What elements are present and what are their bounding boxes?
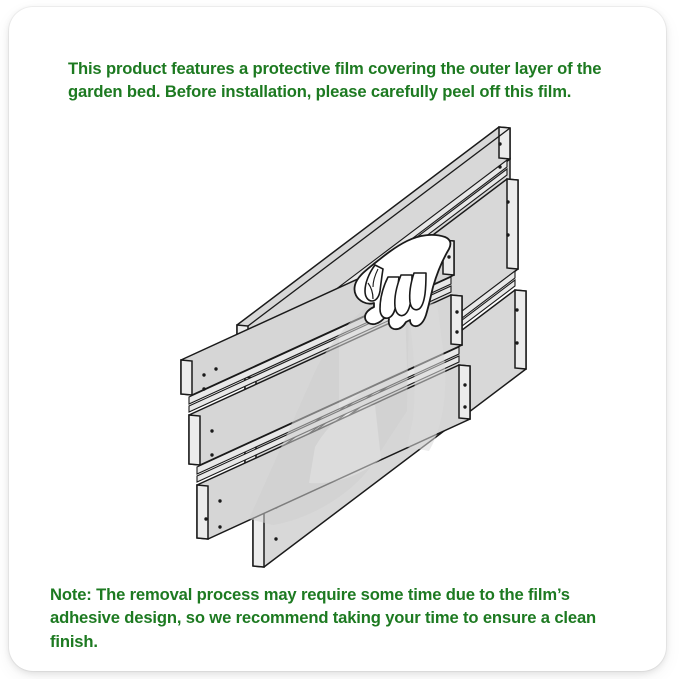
protective-film-sheet <box>249 287 445 525</box>
removal-time-note-text: Note: The removal process may require so… <box>50 583 630 654</box>
upper-panel-assembly <box>237 127 526 567</box>
hand-peeling-film-illustration <box>9 7 666 671</box>
lower-panel-assembly <box>181 240 470 539</box>
instruction-card: This product features a protective film … <box>9 7 666 671</box>
protective-film-instruction-text: This product features a protective film … <box>68 57 628 104</box>
screw-holes-upper <box>257 142 518 540</box>
screw-holes-lower <box>202 255 466 528</box>
illustration-container <box>9 7 666 671</box>
hand <box>354 235 450 329</box>
